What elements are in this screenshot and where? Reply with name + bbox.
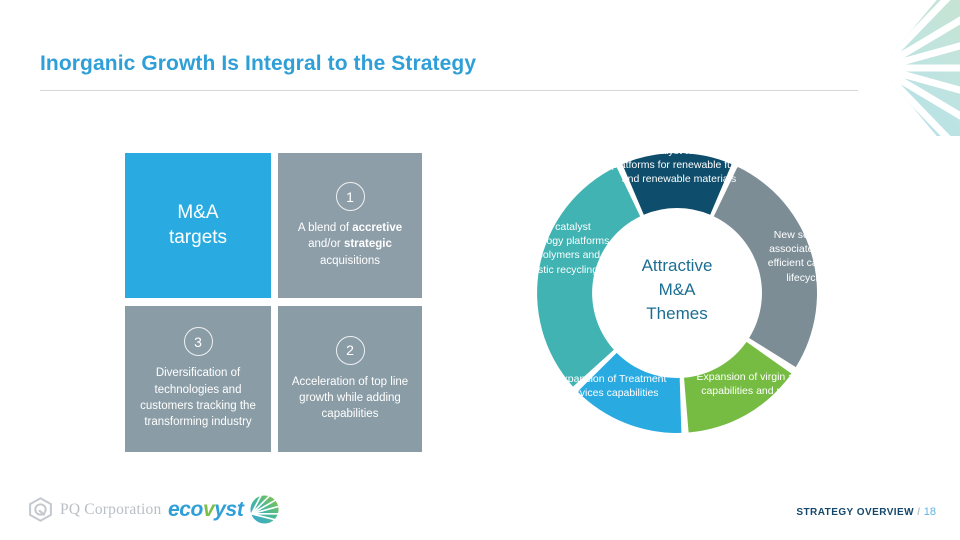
donut-label-right: New services associated with efficient c… (753, 228, 857, 285)
ma-card-2: 2 Acceleration of top line growth while … (278, 306, 422, 452)
page-number: 18 (924, 506, 936, 518)
title-divider (40, 90, 858, 91)
card-text-2: Acceleration of top line growth while ad… (288, 374, 412, 423)
card-number-badge-2: 2 (336, 336, 365, 365)
ma-targets-box: M&A targets (125, 153, 271, 298)
pq-hexagon-icon (28, 497, 53, 522)
pq-corporation-logo: PQ Corporation (28, 497, 161, 522)
donut-center-line3: Themes (602, 302, 752, 326)
donut-label-bottom-left: Expansion of Treatment Services capabili… (551, 372, 671, 400)
footer-section-label: STRATEGY OVERVIEW / 18 (796, 506, 936, 518)
donut-label-left: New catalyst technology platforms for po… (511, 220, 611, 277)
ma-targets-line1: M&A (177, 201, 218, 225)
card-text-3: Diversification of technologies and cust… (135, 365, 261, 430)
attractive-ma-themes-donut: New catalyst technology platforms for re… (495, 118, 875, 468)
donut-center-line2: M&A (602, 278, 752, 302)
card-number-badge-1: 1 (336, 182, 365, 211)
ecovyst-sunburst-icon (249, 494, 280, 525)
donut-center-line1: Attractive (602, 254, 752, 278)
card-number-badge-3: 3 (184, 327, 213, 356)
donut-label-top: New catalyst technology platforms for re… (607, 144, 751, 187)
sunburst-decoration-icon (855, 0, 960, 136)
ma-card-3: 3 Diversification of technologies and cu… (125, 306, 271, 452)
ma-card-1: 1 A blend of accretive and/or strategic … (278, 153, 422, 298)
footer-section-text: STRATEGY OVERVIEW (796, 507, 914, 518)
footer-separator: / (917, 507, 920, 518)
donut-center-label: Attractive M&A Themes (602, 254, 752, 326)
ma-targets-line2: targets (169, 226, 227, 250)
ecovyst-logo: ecovyst (168, 494, 280, 525)
ecovyst-wordmark: ecovyst (168, 498, 243, 522)
card-text-1: A blend of accretive and/or strategic ac… (288, 220, 412, 269)
pq-corporation-wordmark: PQ Corporation (60, 501, 161, 519)
page-title: Inorganic Growth Is Integral to the Stra… (40, 52, 476, 76)
ma-targets-grid: M&A targets 1 A blend of accretive and/o… (125, 153, 422, 452)
slide: Inorganic Growth Is Integral to the Stra… (0, 0, 960, 540)
donut-label-bottom-right: Expansion of virgin acid capabilities an… (693, 370, 811, 398)
